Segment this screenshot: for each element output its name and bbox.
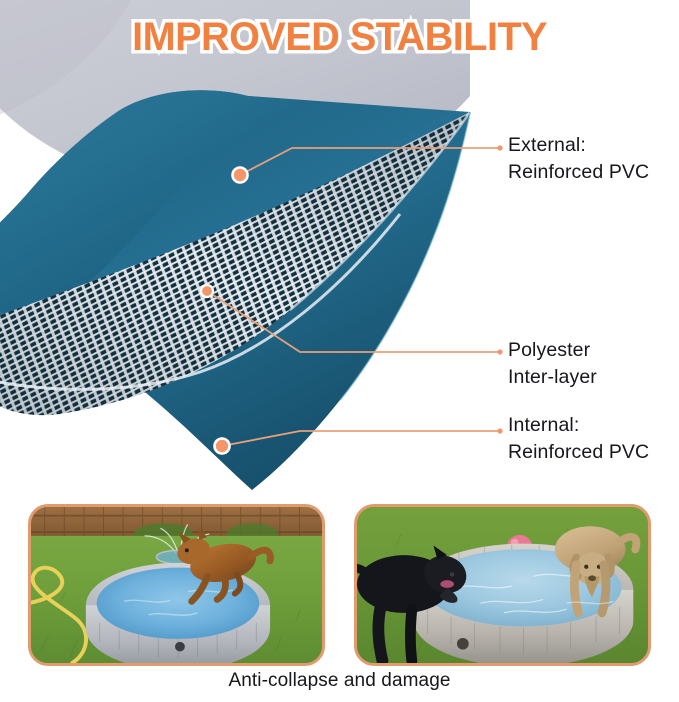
callout-polyester-line1: Polyester: [508, 339, 590, 361]
callout-external-line2: Reinforced PVC: [508, 159, 649, 186]
callout-internal-line1: Internal:: [508, 414, 579, 436]
photo-right-scene: [357, 507, 648, 663]
callout-label-polyester: Polyester Inter-layer: [508, 337, 597, 391]
callout-internal-line2: Reinforced PVC: [508, 439, 649, 466]
callout-label-external: External: Reinforced PVC: [508, 132, 649, 186]
callout-polyester-line2: Inter-layer: [508, 364, 597, 391]
product-photo-right: [354, 504, 651, 666]
product-photos-section: Anti-collapse and damage: [0, 498, 679, 702]
callout-label-internal: Internal: Reinforced PVC: [508, 412, 649, 466]
photo-left-scene: [31, 507, 322, 663]
callout-external-line1: External:: [508, 134, 586, 156]
material-diagram-section: IMPROVED STABILITY External: Reinforced …: [0, 0, 679, 498]
photos-caption: Anti-collapse and damage: [0, 670, 679, 692]
product-photo-left: [28, 504, 325, 666]
